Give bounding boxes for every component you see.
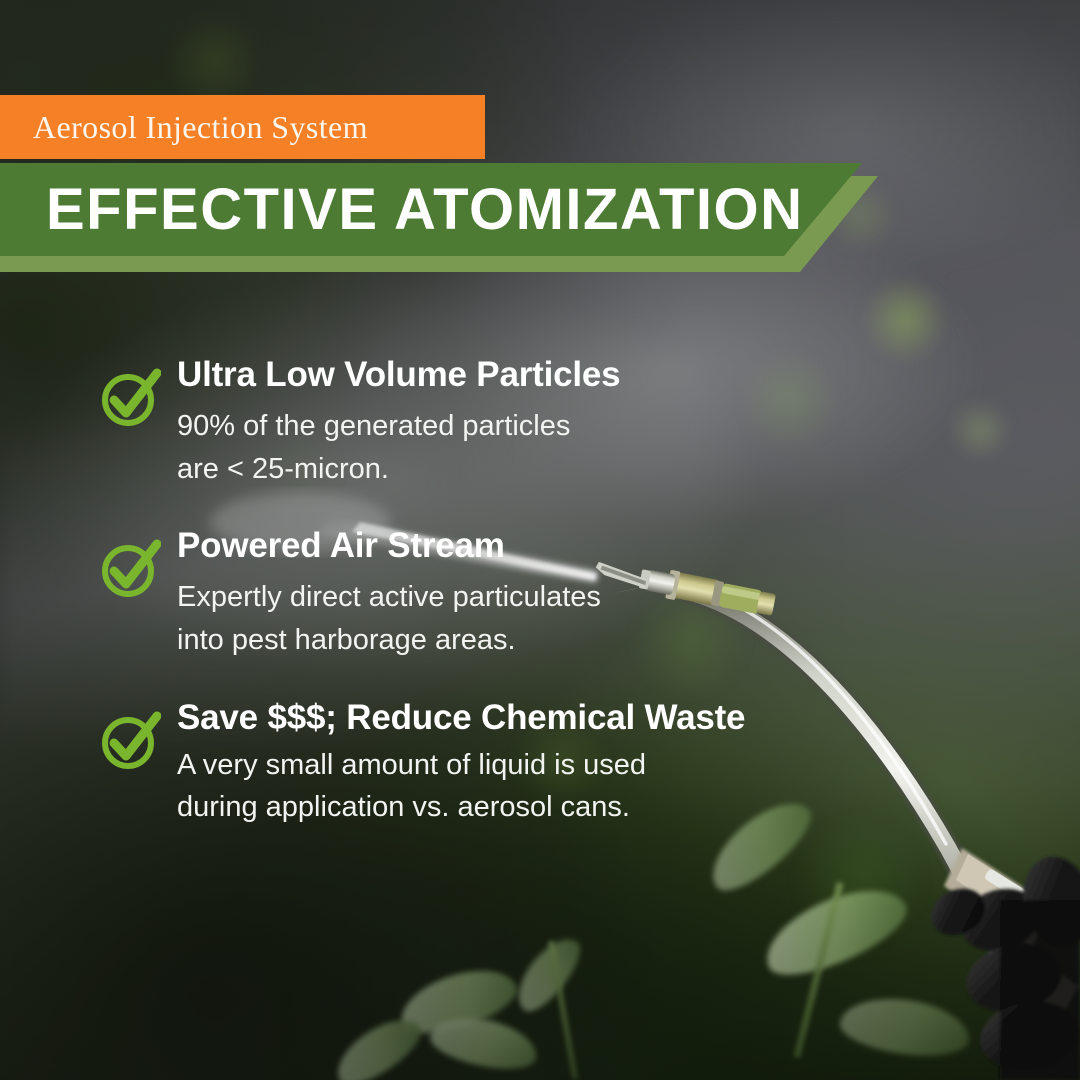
headline-banner: EFFECTIVE ATOMIZATION xyxy=(0,163,862,256)
feature-body: Powered Air Stream Expertly direct activ… xyxy=(177,526,601,661)
feature-body: Save $$$; Reduce Chemical Waste A very s… xyxy=(177,698,745,829)
feature-heading: Powered Air Stream xyxy=(177,526,601,566)
check-circle-icon xyxy=(99,367,161,429)
feature-list: Ultra Low Volume Particles 90% of the ge… xyxy=(0,355,860,865)
feature-body: Ultra Low Volume Particles 90% of the ge… xyxy=(177,355,620,490)
feature-heading: Save $$$; Reduce Chemical Waste xyxy=(177,698,745,738)
feature-description: 90% of the generated particles are < 25-… xyxy=(177,405,620,490)
feature-item: Save $$$; Reduce Chemical Waste A very s… xyxy=(0,698,860,829)
eyebrow-banner: Aerosol Injection System xyxy=(0,95,485,159)
check-circle-icon xyxy=(99,538,161,600)
page-title: EFFECTIVE ATOMIZATION xyxy=(46,176,804,243)
feature-description: A very small amount of liquid is used du… xyxy=(177,744,745,829)
feature-item: Ultra Low Volume Particles 90% of the ge… xyxy=(0,355,860,490)
feature-description: Expertly direct active particulates into… xyxy=(177,576,601,661)
feature-heading: Ultra Low Volume Particles xyxy=(177,355,620,395)
poster-canvas: Aerosol Injection System EFFECTIVE ATOMI… xyxy=(0,0,1080,1080)
check-circle-icon xyxy=(99,710,161,772)
sprayer-handle xyxy=(944,848,1078,1020)
foliage-leaf xyxy=(837,991,973,1063)
feature-item: Powered Air Stream Expertly direct activ… xyxy=(0,526,860,661)
eyebrow-text: Aerosol Injection System xyxy=(33,109,368,146)
